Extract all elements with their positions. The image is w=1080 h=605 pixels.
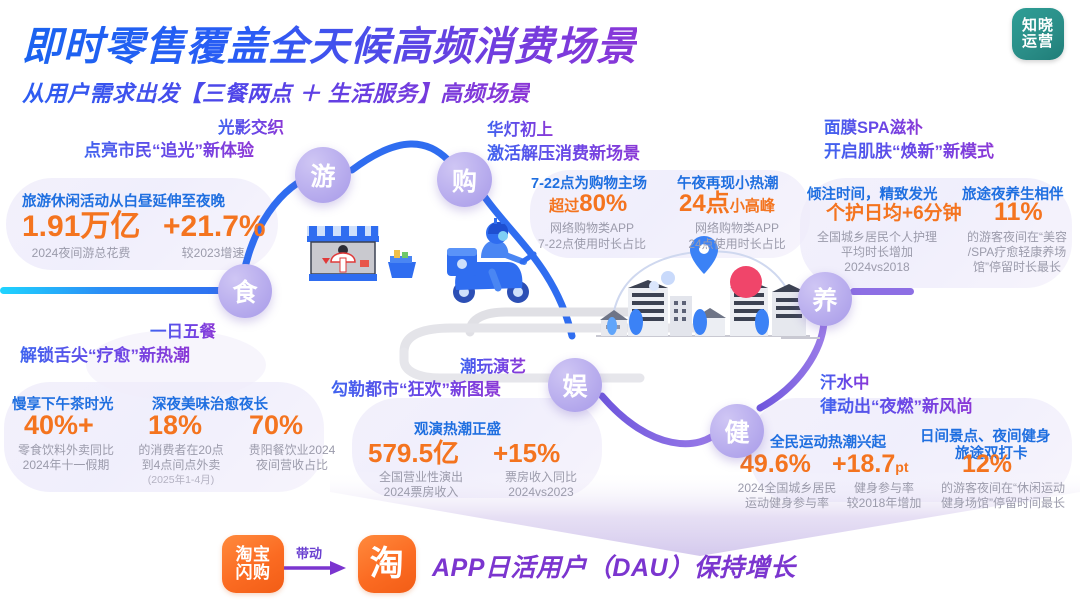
travel-metric-0-value: 1.91万亿 [22,212,140,242]
shopping-metric-1-suffix: 小高峰 [730,198,775,215]
travel-head-line2: 点亮市民“追光”新体验 [84,140,254,162]
food-metric-0-note1: 零食饮料外卖同比 [8,443,124,459]
taobao-flash-line1: 淘宝 [236,546,271,564]
dau-headline: APP日活用户（DAU）保持增长 [432,548,796,584]
entertainment-metric-1-note1: 票房收入同比 [486,470,596,486]
food-head-line1: 一日五餐 [150,322,216,344]
wellness-metric-1-note2: /SPA疗愈轻康养场 [958,245,1076,261]
taobao-flash-line2: 闪购 [236,564,271,582]
wellness-metric-1-note3: 馆”停留时长最长 [958,260,1076,276]
fitness-metric-0-note1: 2024全国城乡居民 [728,481,846,497]
shopping-metric-0-value: 超过80% [549,192,627,216]
entertainment-metric-1-note2: 2024vs2023 [486,485,596,501]
shopping-metric-1-note1: 网络购物类APP [676,221,798,237]
logo-line-2: 运营 [1022,34,1054,50]
entertainment-metric-0-note1: 全国营业性演出 [360,470,482,486]
shopping-metric-1-note2: 24点使用时长占比 [673,237,801,253]
food-head-line2: 解锁舌尖“疗愈”新热潮 [20,345,190,367]
shopping-metric-0-note2: 7-22点使用时长占比 [528,237,656,253]
page-subtitle: 从用户需求出发【三餐两点 ＋ 生活服务】高频场景 [22,76,530,108]
food-metric-0-note2: 2024年十一假期 [8,458,124,474]
delivery-rider-illustration [447,218,534,303]
brand-logo: 知晓 运营 [1012,8,1064,60]
food-metric-2-note2: 夜间营收占比 [234,458,350,474]
food-metric-1-note2: 到4点间点外卖 [122,458,240,474]
taobao-mark: 淘 [370,546,405,583]
wellness-metric-0-note2: 平均时长增加 [803,245,951,261]
entertainment-head-line1: 潮玩演艺 [460,357,526,379]
travel-metric-1-value: +21.7% [163,212,266,242]
fitness-metric-1-note2: 较2018年增加 [836,496,932,512]
wellness-metric-0-title: 倾注时间，精致发光 [807,183,938,204]
shopping-metric-0-number: 80% [579,190,627,217]
node-jian[interactable]: 健 [710,404,764,458]
entertainment-metric-1-value: +15% [493,440,560,466]
food-metric-1-value: 18% [148,412,202,439]
shopping-metric-0-prefix: 超过 [549,198,579,215]
food-metric-2-note1: 贵阳餐饮业2024 [234,443,350,459]
entertainment-metric-0-value: 579.5亿 [368,440,459,466]
food-metric-0-value: 40%+ [24,412,94,439]
fitness-metric-1-unit: pt [895,459,908,475]
fitness-head-line2: 律动出“夜燃”新风尚 [820,396,973,418]
node-yang[interactable]: 养 [798,272,852,326]
shopping-metric-1-value: 24点小高峰 [679,192,775,216]
travel-head-line1: 光影交织 [218,118,284,140]
taobao-flash-logo[interactable]: 淘宝 闪购 [222,535,284,593]
fitness-stat-title-left: 全民运动热潮兴起 [770,431,886,452]
fitness-metric-2-note2: 健身场馆”停留时间最长 [930,496,1076,512]
fitness-metric-1-note1: 健身参与率 [836,481,932,497]
food-metric-2-value: 70% [249,412,303,439]
node-shi[interactable]: 食 [218,264,272,318]
food-metric-1-note3: (2025年1-4月) [122,474,240,488]
taobao-logo[interactable]: 淘 [358,535,416,593]
wellness-metric-0-value: 个护日均+6分钟 [826,204,962,223]
wellness-head-line1: 面膜SPA滋补 [824,118,923,140]
node-shi-label: 食 [232,273,257,309]
fitness-metric-2-note1: 的游客夜间在“休闲运动 [930,481,1076,497]
shopping-metric-1-number: 24点 [679,190,730,217]
node-yu-label: 娱 [562,367,587,403]
travel-metric-0-note: 2024夜间游总花费 [22,246,140,262]
entertainment-head-line2: 勾勒都市“狂欢”新图景 [331,379,501,401]
shopping-head-line1: 华灯初上 [487,120,553,142]
node-you[interactable]: 游 [295,147,351,203]
fitness-metric-1-number: +18.7 [832,450,895,478]
wellness-metric-1-value: 11% [994,200,1043,225]
fitness-metric-0-note2: 运动健身参与率 [728,496,846,512]
arrow-label: 带动 [296,543,322,562]
shopping-metric-0-note1: 网络购物类APP [531,221,653,237]
fitness-head-line1: 汗水中 [820,373,870,395]
food-metric-1-note1: 的消费者在20点 [122,443,240,459]
wellness-metric-1-note1: 的游客夜间在“美容 [958,230,1076,246]
node-yang-label: 养 [812,281,837,317]
travel-stat-title: 旅游休闲活动从白昼延伸至夜晚 [22,190,225,211]
shopping-head-line2: 激活解压消费新场景 [487,143,640,165]
node-jian-label: 健 [724,413,749,449]
shop-illustration [307,226,416,281]
wellness-head-line2: 开启肌肤“焕新”新模式 [824,141,994,163]
node-you-label: 游 [310,157,335,193]
node-gou-label: 购 [452,162,477,198]
node-yu[interactable]: 娱 [548,358,602,412]
node-gou[interactable]: 购 [437,152,492,207]
entertainment-metric-0-note2: 2024票房收入 [360,485,482,501]
wellness-metric-0-note1: 全国城乡居民个人护理 [803,230,951,246]
page-title: 即时零售覆盖全天候高频消费场景 [22,14,637,72]
fitness-metric-2-value: 12% [962,452,1012,477]
logo-line-1: 知晓 [1022,18,1054,34]
travel-metric-1-note: 较2023增速 [163,246,263,262]
fitness-metric-0-value: 49.6% [740,452,811,477]
fitness-metric-1-value: +18.7pt [832,452,908,477]
infographic-canvas: 即时零售覆盖全天候高频消费场景 从用户需求出发【三餐两点 ＋ 生活服务】高频场景… [0,0,1080,605]
entertainment-stat-title: 观演热潮正盛 [414,418,501,439]
